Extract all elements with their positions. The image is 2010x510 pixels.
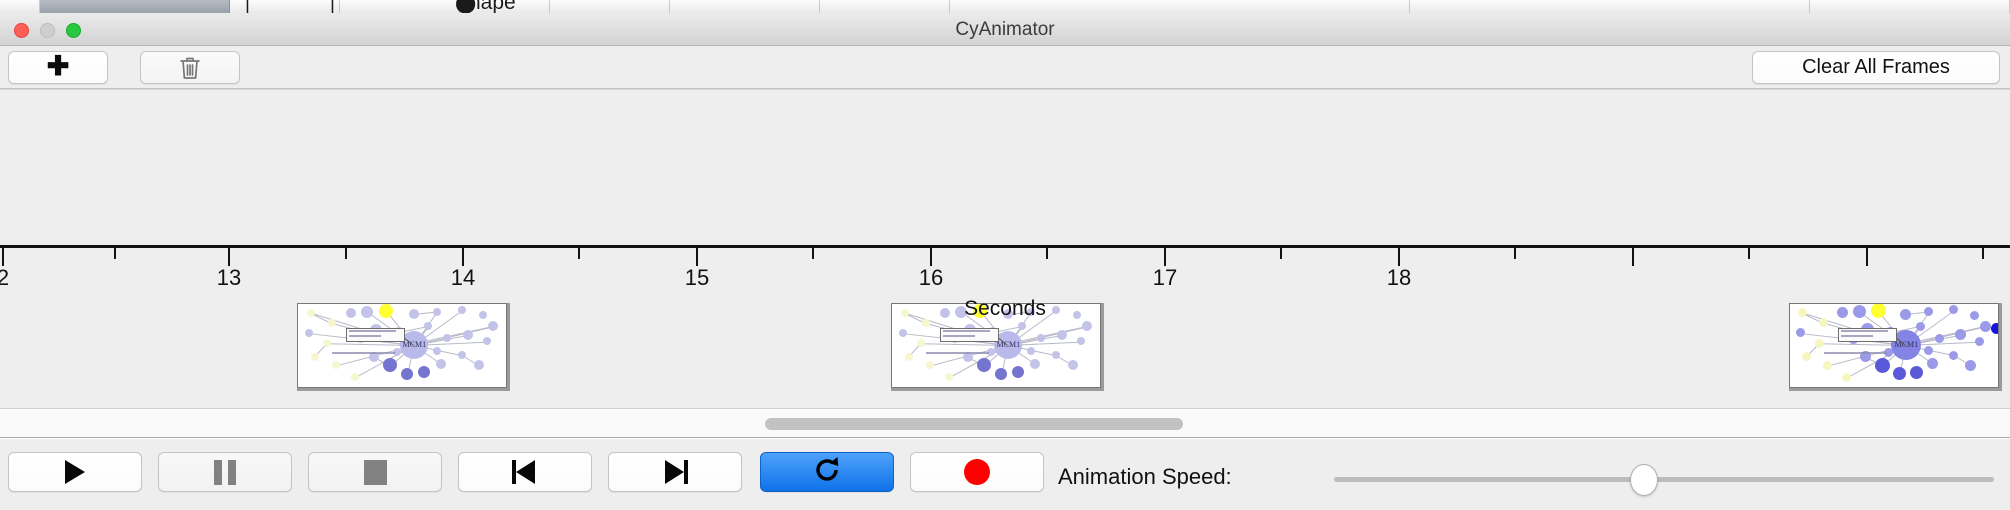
- slider-track[interactable]: [1334, 477, 1994, 482]
- network-node: [483, 337, 491, 345]
- network-node: [458, 351, 466, 359]
- timeline-axis: [0, 245, 2010, 248]
- network-node: [311, 353, 319, 361]
- axis-tick-label: 18: [1369, 265, 1429, 291]
- network-node: [1052, 351, 1060, 359]
- skip-next-icon: [662, 460, 688, 484]
- axis-tick-label: 2: [0, 265, 33, 291]
- network-node: [995, 368, 1007, 380]
- axis-tick: [1164, 248, 1166, 266]
- annotation-text-line: [349, 330, 395, 332]
- network-node: [1980, 321, 1991, 332]
- network-node: [917, 339, 925, 347]
- pause-icon: [214, 460, 236, 485]
- plus-icon: ✚: [47, 53, 70, 80]
- window-title: CyAnimator: [0, 13, 2010, 46]
- background-window-glyph: |: [330, 0, 335, 10]
- axis-tick-label: 14: [433, 265, 493, 291]
- animation-speed-label: Animation Speed:: [1058, 464, 1232, 490]
- axis-tick: [696, 248, 698, 266]
- network-hub-label: MCM1: [997, 340, 1021, 349]
- network-node: [1823, 361, 1832, 370]
- horizontal-scrollbar[interactable]: [0, 410, 2010, 438]
- annotation-text-line: [332, 352, 395, 354]
- slider-thumb[interactable]: [1630, 464, 1658, 496]
- axis-tick-label: 17: [1135, 265, 1195, 291]
- axis-tick-label: 13: [199, 265, 259, 291]
- previous-frame-button[interactable]: [458, 452, 592, 492]
- trash-icon: [179, 55, 201, 81]
- network-node: [1796, 328, 1805, 337]
- annotation-text-line: [926, 352, 989, 354]
- axis-tick-label: 16: [901, 265, 961, 291]
- axis-tick: [1514, 248, 1516, 259]
- network-node: [1949, 351, 1958, 360]
- network-node: [945, 373, 953, 381]
- network-node: [1018, 322, 1026, 330]
- network-node: [1965, 360, 1976, 371]
- background-window-glyph: |: [245, 0, 250, 10]
- network-node: [1082, 321, 1092, 331]
- refresh-loop-icon: [812, 455, 842, 490]
- network-node: [1030, 359, 1040, 369]
- timeline-top-rule: [0, 89, 2010, 90]
- background-window-strip: ||⬤⌒Shape: [0, 0, 2010, 13]
- annotation-text-line: [1841, 335, 1873, 337]
- network-node: [1910, 366, 1923, 379]
- network-node: [463, 330, 473, 340]
- axis-tick: [1632, 248, 1634, 266]
- stop-icon: [364, 460, 387, 485]
- stop-button[interactable]: [308, 452, 442, 492]
- clear-all-frames-button[interactable]: Clear All Frames: [1752, 51, 2000, 84]
- play-button[interactable]: [8, 452, 142, 492]
- network-node: [443, 334, 451, 342]
- network-node: [1842, 373, 1851, 382]
- network-hub-label: MCM1: [403, 340, 427, 349]
- background-window-segment: [550, 0, 670, 13]
- annotation-text-line: [1824, 352, 1887, 354]
- network-node: [305, 329, 313, 337]
- network-node: [926, 361, 934, 369]
- axis-tick: [1398, 248, 1400, 266]
- network-node: [323, 339, 331, 347]
- network-node: [905, 353, 913, 361]
- network-node-highlight: [1991, 323, 1999, 334]
- annotation-text-line: [349, 335, 381, 337]
- axis-tick: [1748, 248, 1750, 259]
- axis-tick: [1866, 248, 1868, 266]
- clear-all-frames-label: Clear All Frames: [1802, 56, 1950, 79]
- network-node: [1875, 358, 1890, 373]
- player-controls-bar: Animation Speed:: [0, 439, 2010, 510]
- network-node: [1027, 347, 1035, 355]
- network-node: [1975, 337, 1984, 346]
- network-node: [1068, 360, 1078, 370]
- axis-tick-label: 15: [667, 265, 727, 291]
- background-window-segment: [1410, 0, 1810, 13]
- network-node: [1927, 358, 1938, 369]
- animation-speed-slider[interactable]: [1334, 477, 1994, 482]
- axis-tick: [1280, 248, 1282, 259]
- network-node: [401, 368, 413, 380]
- skip-previous-icon: [512, 460, 538, 484]
- add-frame-button[interactable]: ✚: [8, 51, 108, 84]
- axis-tick: [930, 248, 932, 266]
- background-window-segment: [0, 0, 40, 13]
- network-node: [1916, 322, 1925, 331]
- network-node: [1077, 337, 1085, 345]
- network-node: [1815, 339, 1824, 348]
- toolbar: ✚ Clear All Frames: [0, 46, 2010, 89]
- network-node: [424, 322, 432, 330]
- network-hub-label: MCM1: [1895, 340, 1919, 349]
- scrollbar-thumb[interactable]: [765, 418, 1183, 430]
- network-node: [1802, 352, 1811, 361]
- network-node: [899, 329, 907, 337]
- network-node: [351, 373, 359, 381]
- axis-tick: [114, 248, 116, 259]
- axis-tick: [1982, 248, 1984, 259]
- background-window-segment: [40, 0, 230, 13]
- background-window-segment: [670, 0, 820, 13]
- background-window-segment: [1810, 0, 2010, 13]
- record-button[interactable]: [910, 452, 1044, 492]
- axis-title: Seconds: [0, 297, 2010, 321]
- axis-tick: [228, 248, 230, 266]
- annotation-text-line: [1841, 330, 1887, 332]
- background-window-segment: [820, 0, 950, 13]
- background-window-segment: [950, 0, 1410, 13]
- network-node: [488, 321, 498, 331]
- network-node: [977, 358, 991, 372]
- network-node: [1924, 346, 1933, 355]
- network-node: [1012, 366, 1024, 378]
- timeline-panel[interactable]: MCM1MCM1MCM1 2131415161718 Seconds: [0, 89, 2010, 409]
- axis-tick: [812, 248, 814, 259]
- axis-tick: [345, 248, 347, 259]
- axis-tick: [1046, 248, 1048, 259]
- axis-tick: [578, 248, 580, 259]
- axis-tick: [462, 248, 464, 266]
- network-node: [1935, 334, 1944, 343]
- title-bar: CyAnimator: [0, 13, 2010, 46]
- background-window-segment: [340, 0, 460, 13]
- record-icon: [964, 459, 990, 485]
- network-node: [1037, 334, 1045, 342]
- network-node: [1955, 329, 1966, 340]
- pause-button[interactable]: [158, 452, 292, 492]
- play-icon: [65, 460, 85, 484]
- delete-frame-button[interactable]: [140, 51, 240, 84]
- network-node: [1893, 367, 1906, 380]
- network-node: [436, 359, 446, 369]
- network-node: [418, 366, 430, 378]
- background-window-label: Shape: [455, 0, 516, 9]
- network-node: [383, 358, 397, 372]
- network-node: [332, 361, 340, 369]
- background-window-glyph: ⌒: [1795, 0, 1814, 10]
- next-frame-button[interactable]: [608, 452, 742, 492]
- cyanimator-window: ||⬤⌒Shape CyAnimator ✚ Clear All Frames …: [0, 0, 2010, 510]
- axis-tick: [2, 248, 4, 266]
- loop-button[interactable]: [760, 452, 894, 492]
- network-node: [474, 360, 484, 370]
- annotation-text-line: [943, 335, 975, 337]
- network-node: [433, 347, 441, 355]
- annotation-text-line: [943, 330, 989, 332]
- network-node: [1057, 330, 1067, 340]
